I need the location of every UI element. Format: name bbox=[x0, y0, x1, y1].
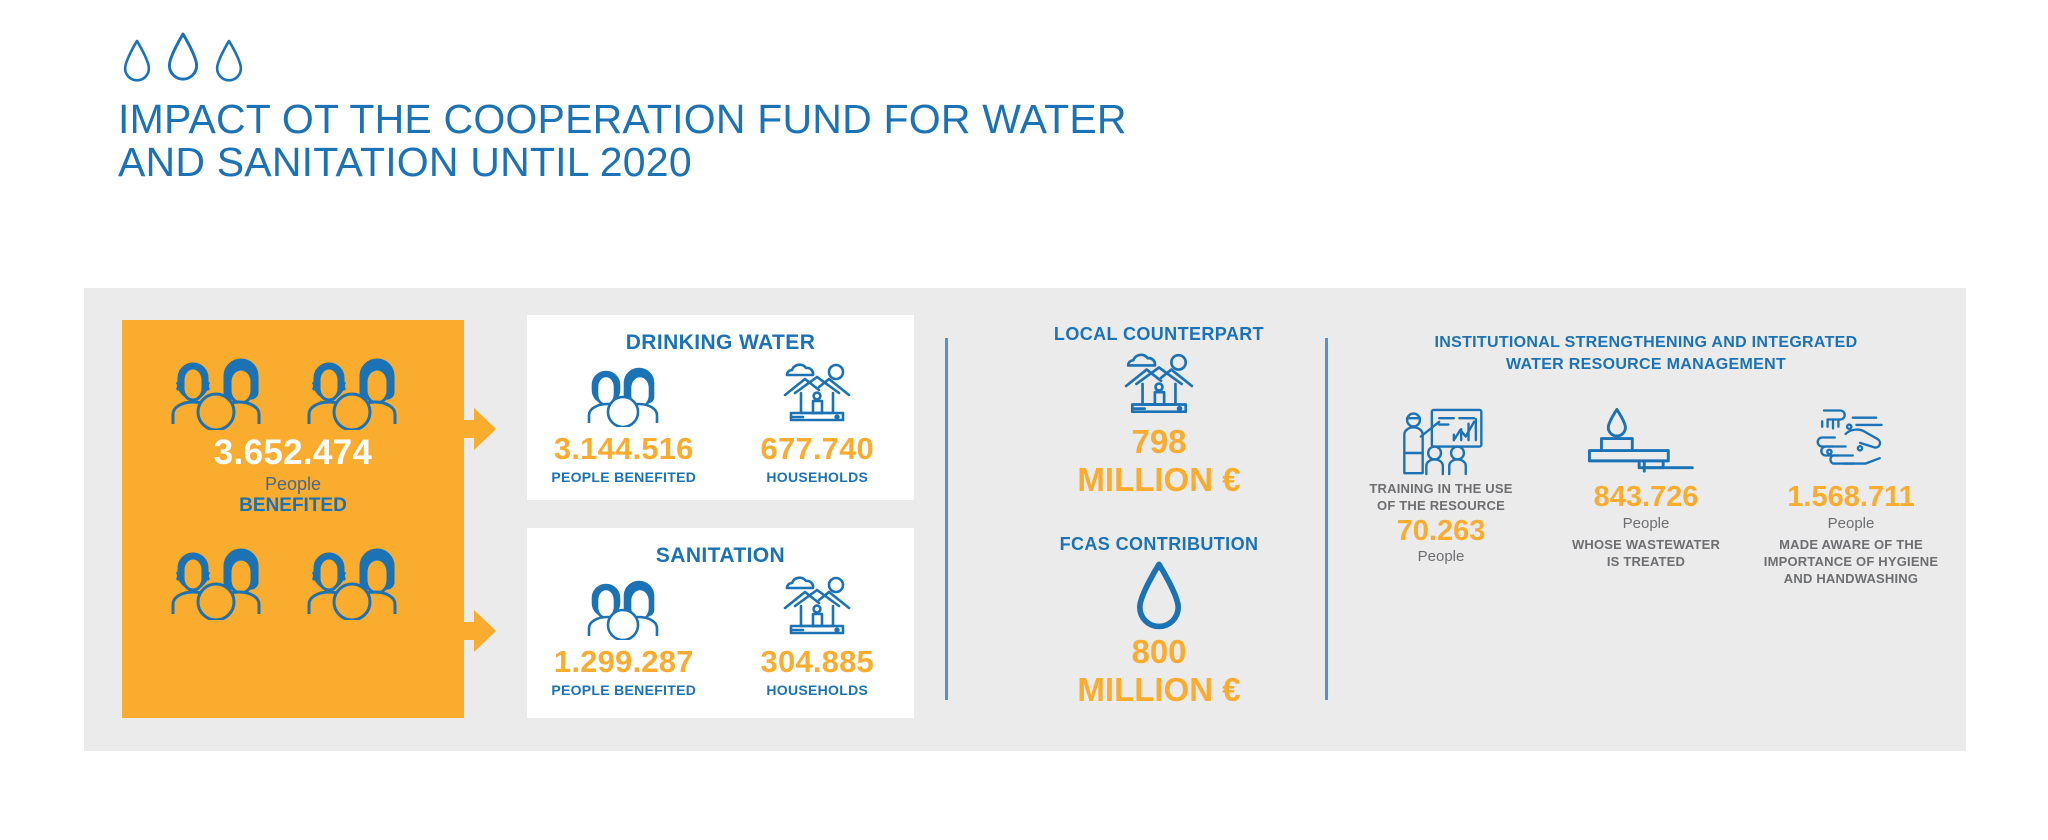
people-icon bbox=[305, 542, 417, 620]
institutional-section: INSTITUTIONAL STRENGTHENING AND INTEGRAT… bbox=[1346, 332, 1946, 588]
card-label: PEOPLE BENEFITED bbox=[536, 469, 711, 485]
card-columns: 3.144.516 PEOPLE BENEFITED bbox=[527, 361, 914, 485]
people-icon bbox=[536, 574, 711, 640]
card-number: 677.740 bbox=[730, 431, 905, 467]
institutional-title: INSTITUTIONAL STRENGTHENING AND INTEGRAT… bbox=[1346, 332, 1946, 375]
institutional-number: 1.568.711 bbox=[1756, 481, 1946, 514]
wastewater-treatment-icon bbox=[1586, 406, 1706, 478]
house-icon bbox=[730, 574, 905, 640]
training-presentation-icon bbox=[1397, 407, 1485, 477]
funding-title: FCAS CONTRIBUTION bbox=[1014, 534, 1304, 555]
institutional-item-wastewater: 843.726 People WHOSE WASTEWATER IS TREAT… bbox=[1551, 403, 1741, 588]
handwashing-icon bbox=[1806, 405, 1896, 479]
wastewater-treatment-icon bbox=[1551, 403, 1741, 481]
card-drinking-water: DRINKING WATER bbox=[527, 315, 914, 500]
page-title: IMPACT OT THE COOPERATION FUND FOR WATER… bbox=[118, 98, 1318, 183]
water-drop-icon bbox=[1135, 561, 1183, 631]
people-icon bbox=[169, 542, 281, 620]
funding-column: LOCAL COUNTERPART bbox=[1014, 324, 1304, 708]
institutional-caption-line-3: AND HANDWASHING bbox=[1756, 571, 1946, 588]
funding-fcas-contribution: FCAS CONTRIBUTION 800 MILLION € bbox=[1014, 534, 1304, 708]
institutional-unit: People bbox=[1756, 515, 1946, 534]
card-columns: 1.299.287 PEOPLE BENEFITED bbox=[527, 574, 914, 698]
summary-unit: People bbox=[122, 473, 464, 496]
house-icon bbox=[730, 361, 905, 427]
institutional-title-line-2: WATER RESOURCE MANAGEMENT bbox=[1346, 354, 1946, 376]
card-sanitation: SANITATION bbox=[527, 528, 914, 718]
vertical-divider bbox=[945, 338, 948, 700]
vertical-divider bbox=[1325, 338, 1328, 700]
card-number: 3.144.516 bbox=[536, 431, 711, 467]
institutional-caption-line-1: MADE AWARE OF THE bbox=[1756, 537, 1946, 554]
water-drop-icon bbox=[1014, 559, 1304, 633]
card-title: SANITATION bbox=[527, 528, 914, 568]
card-title: DRINKING WATER bbox=[527, 315, 914, 355]
handwashing-icon bbox=[1756, 403, 1946, 481]
summary-figure: 3.652.474 People BENEFITED bbox=[122, 434, 464, 518]
page-header: IMPACT OT THE COOPERATION FUND FOR WATER… bbox=[118, 22, 1318, 183]
arrow-right-icon bbox=[452, 406, 496, 452]
institutional-number: 843.726 bbox=[1551, 481, 1741, 514]
people-icon bbox=[536, 361, 711, 427]
institutional-caption-line-2: OF THE RESOURCE bbox=[1346, 498, 1536, 515]
institutional-title-line-1: INSTITUTIONAL STRENGTHENING AND INTEGRAT… bbox=[1346, 332, 1946, 354]
card-column-people: 3.144.516 PEOPLE BENEFITED bbox=[536, 361, 711, 485]
house-icon bbox=[1014, 349, 1304, 423]
funding-amount-line-2: MILLION € bbox=[1014, 671, 1304, 709]
funding-title: LOCAL COUNTERPART bbox=[1014, 324, 1304, 345]
people-group-icon bbox=[122, 320, 464, 430]
institutional-item-training: TRAINING IN THE USE OF THE RESOURCE 70.2… bbox=[1346, 403, 1536, 588]
card-label: HOUSEHOLDS bbox=[730, 682, 905, 698]
arrow-right-icon bbox=[452, 608, 496, 654]
training-presentation-icon bbox=[1346, 403, 1536, 481]
people-icon bbox=[585, 578, 663, 640]
funding-local-counterpart: LOCAL COUNTERPART bbox=[1014, 324, 1304, 498]
card-number: 1.299.287 bbox=[536, 644, 711, 680]
card-number: 304.885 bbox=[730, 644, 905, 680]
page-title-line-2: AND SANITATION UNTIL 2020 bbox=[118, 141, 1318, 184]
people-group-icon bbox=[122, 518, 464, 620]
card-column-people: 1.299.287 PEOPLE BENEFITED bbox=[536, 574, 711, 698]
institutional-caption: MADE AWARE OF THE IMPORTANCE OF HYGIENE … bbox=[1756, 537, 1946, 588]
water-drop-icon bbox=[214, 38, 244, 84]
institutional-item-handwashing: 1.568.711 People MADE AWARE OF THE IMPOR… bbox=[1756, 403, 1946, 588]
card-column-households: 677.740 HOUSEHOLDS bbox=[730, 361, 905, 485]
institutional-unit: People bbox=[1346, 548, 1536, 567]
infographic-panel: 3.652.474 People BENEFITED bbox=[84, 288, 1966, 751]
funding-amount-line-1: 800 bbox=[1014, 633, 1304, 671]
institutional-unit: People bbox=[1551, 515, 1741, 534]
house-icon bbox=[781, 363, 853, 427]
people-icon bbox=[305, 352, 417, 430]
institutional-caption-line-2: IS TREATED bbox=[1551, 554, 1741, 571]
institutional-caption-line-1: WHOSE WASTEWATER bbox=[1551, 537, 1741, 554]
summary-block: 3.652.474 People BENEFITED bbox=[122, 320, 464, 718]
page-title-line-1: IMPACT OT THE COOPERATION FUND FOR WATER bbox=[118, 98, 1318, 141]
summary-number: 3.652.474 bbox=[122, 434, 464, 473]
institutional-caption-line-2: IMPORTANCE OF HYGIENE bbox=[1756, 554, 1946, 571]
institutional-caption: WHOSE WASTEWATER IS TREATED bbox=[1551, 537, 1741, 571]
institutional-caption-line-1: TRAINING IN THE USE bbox=[1346, 481, 1536, 498]
funding-amount-line-1: 798 bbox=[1014, 423, 1304, 461]
card-column-households: 304.885 HOUSEHOLDS bbox=[730, 574, 905, 698]
card-label: PEOPLE BENEFITED bbox=[536, 682, 711, 698]
water-drop-icon bbox=[122, 38, 152, 84]
institutional-items: TRAINING IN THE USE OF THE RESOURCE 70.2… bbox=[1346, 403, 1946, 588]
summary-label: BENEFITED bbox=[122, 495, 464, 518]
house-icon bbox=[1122, 353, 1196, 419]
people-icon bbox=[169, 352, 281, 430]
people-icon bbox=[585, 365, 663, 427]
funding-amount-line-2: MILLION € bbox=[1014, 461, 1304, 499]
card-label: HOUSEHOLDS bbox=[730, 469, 905, 485]
house-icon bbox=[781, 576, 853, 640]
institutional-caption: TRAINING IN THE USE OF THE RESOURCE bbox=[1346, 481, 1536, 515]
institutional-number: 70.263 bbox=[1346, 515, 1536, 548]
water-drop-icon bbox=[166, 30, 200, 84]
header-drops-group bbox=[122, 22, 1318, 84]
